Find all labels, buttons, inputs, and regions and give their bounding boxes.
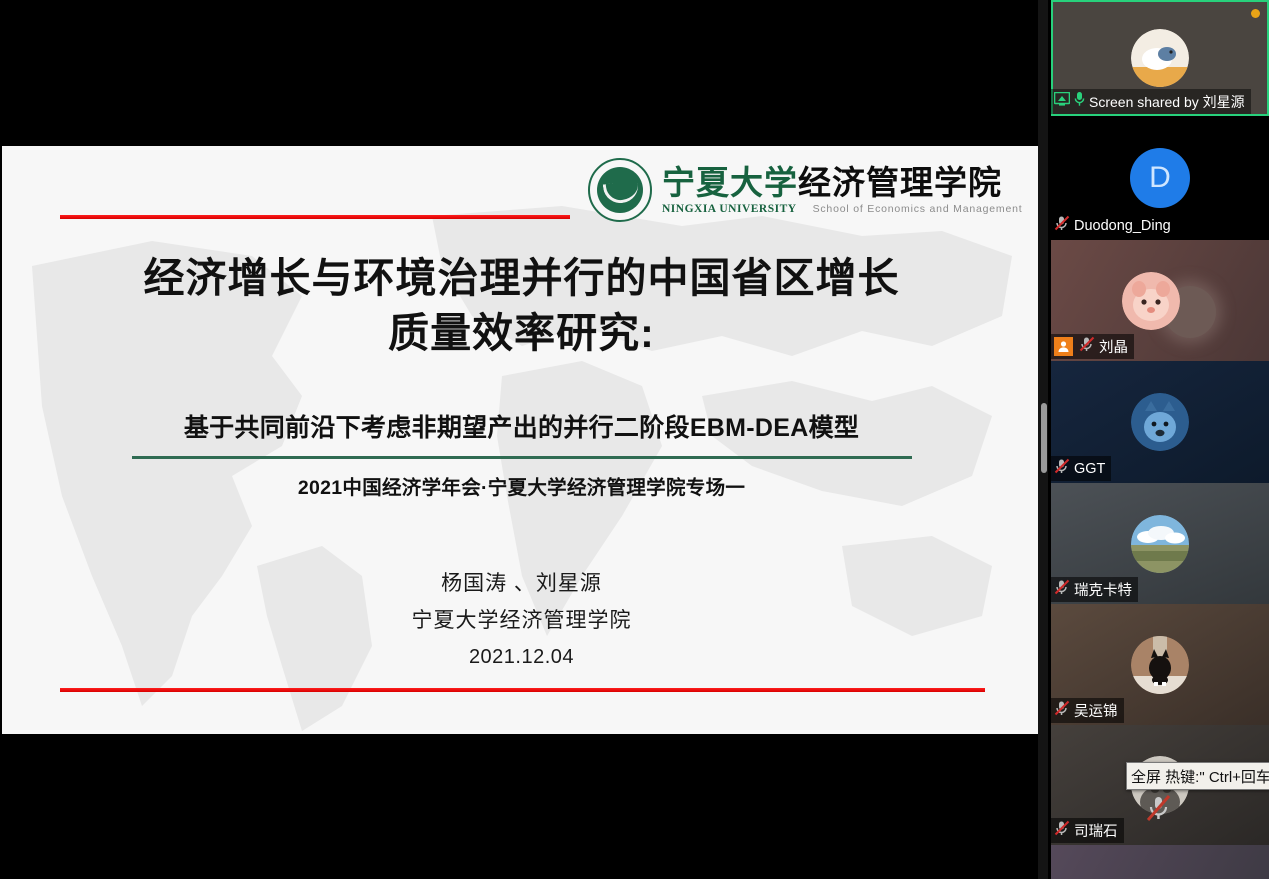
- tile-label: 刘晶: [1051, 334, 1134, 359]
- tile-screen-share[interactable]: Screen shared by 刘星源: [1051, 0, 1269, 116]
- avatar-initial: D: [1149, 161, 1171, 195]
- logo-school-en: School of Economics and Management: [813, 203, 1023, 215]
- microphone-muted-icon: [1054, 820, 1070, 841]
- participant-filmstrip[interactable]: Screen shared by 刘星源 D Duodong_Ding: [1051, 0, 1269, 879]
- slide-event-name: 2021中国经济学年会·宁夏大学经济管理学院专场一: [2, 471, 1041, 500]
- microphone-muted-icon: [1079, 336, 1095, 357]
- mouse-cursor-mute-icon: [1146, 793, 1172, 823]
- slide-authors: 杨国涛 、刘星源: [2, 566, 1041, 603]
- slide-date: 2021.12.04: [2, 640, 1041, 675]
- recording-indicator-icon: [1251, 9, 1260, 18]
- shared-screen-stage[interactable]: 宁夏大学经济管理学院 NINGXIA UNIVERSITY School of …: [0, 0, 1045, 879]
- tile-label: Duodong_Ding: [1051, 213, 1177, 238]
- microphone-muted-icon: [1054, 579, 1070, 600]
- slide-affiliation: 宁夏大学经济管理学院: [2, 603, 1041, 640]
- tile-label: 瑞克卡特: [1051, 577, 1138, 602]
- logo-chinese-text: 宁夏大学经济管理学院: [662, 166, 1022, 199]
- microphone-muted-icon: [1054, 215, 1070, 236]
- tile-label: 吴运锦: [1051, 698, 1124, 723]
- slide-title-line1: 经济增长与环境治理并行的中国省区增长: [144, 255, 900, 301]
- slide-title-line2: 质量效率研究:: [2, 306, 1041, 361]
- avatar: [1122, 272, 1180, 330]
- logo-university-cn: 宁夏大学: [662, 164, 798, 201]
- tile-label: 司瑞石: [1051, 818, 1124, 843]
- tile-label-text: 瑞克卡特: [1074, 579, 1132, 600]
- tile-participant-ggt[interactable]: GGT: [1051, 361, 1269, 483]
- avatar: [1131, 515, 1189, 573]
- tile-participant-partial[interactable]: [1051, 845, 1269, 879]
- logo-school-cn: 经济管理学院: [798, 164, 1002, 201]
- slide-title: 经济增长与环境治理并行的中国省区增长 质量效率研究:: [2, 251, 1041, 362]
- avatar: D: [1130, 148, 1190, 208]
- divider-green: [132, 456, 912, 459]
- logo-university-en: NINGXIA UNIVERSITY: [662, 203, 797, 215]
- fullscreen-hotkey-tooltip: 全屏 热键:" Ctrl+回车: [1126, 762, 1269, 790]
- avatar: [1131, 636, 1189, 694]
- divider-red-bottom: [60, 688, 985, 692]
- tile-label-text: 刘晶: [1099, 336, 1128, 357]
- meeting-window: 宁夏大学经济管理学院 NINGXIA UNIVERSITY School of …: [0, 0, 1269, 879]
- microphone-icon: [1074, 91, 1085, 112]
- microphone-muted-icon: [1054, 700, 1070, 721]
- screen-share-icon: [1054, 92, 1070, 111]
- presentation-slide: 宁夏大学经济管理学院 NINGXIA UNIVERSITY School of …: [2, 146, 1041, 734]
- tile-label-text: 司瑞石: [1074, 820, 1118, 841]
- avatar: [1131, 29, 1189, 87]
- tile-label-text: Duodong_Ding: [1074, 218, 1171, 234]
- tile-participant-liujing[interactable]: 刘晶: [1051, 240, 1269, 361]
- tile-label-text: GGT: [1074, 461, 1105, 477]
- slide-author-block: 杨国涛 、刘星源 宁夏大学经济管理学院 2021.12.04: [2, 566, 1041, 675]
- tile-label: GGT: [1051, 456, 1111, 481]
- tile-label: Screen shared by 刘星源: [1051, 89, 1251, 114]
- tile-participant-ruikekate[interactable]: 瑞克卡特: [1051, 483, 1269, 604]
- tile-label-text: 吴运锦: [1074, 700, 1118, 721]
- microphone-muted-icon: [1054, 458, 1070, 479]
- tile-participant-wuyunjin[interactable]: 吴运锦: [1051, 604, 1269, 725]
- avatar: [1131, 393, 1189, 451]
- filmstrip-scrollbar-thumb[interactable]: [1041, 403, 1047, 473]
- university-seal-icon: [588, 158, 652, 222]
- divider-red-top: [60, 215, 570, 219]
- slide-subtitle: 基于共同前沿下考虑非期望产出的并行二阶段EBM-DEA模型: [2, 408, 1041, 444]
- university-logo: 宁夏大学经济管理学院 NINGXIA UNIVERSITY School of …: [588, 152, 1033, 228]
- tile-participant-duodong-ding[interactable]: D Duodong_Ding: [1051, 116, 1269, 240]
- host-badge-icon: [1054, 337, 1073, 356]
- tile-label-text: Screen shared by 刘星源: [1089, 92, 1245, 112]
